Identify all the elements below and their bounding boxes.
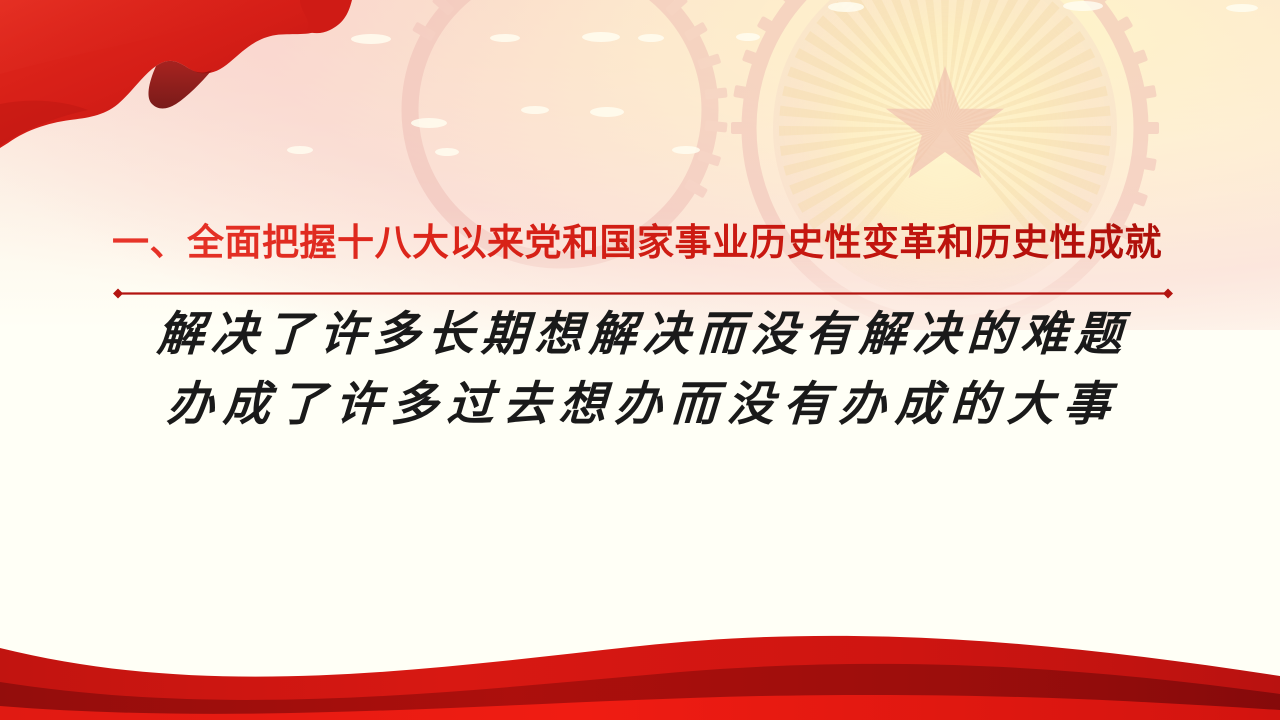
body-text-block: 解决了许多长期想解决而没有解决的难题 办成了许多过去想办而没有办成的大事 xyxy=(112,300,1174,440)
divider-right-diamond xyxy=(1163,289,1173,299)
heading-divider xyxy=(112,288,1174,299)
slide-content: 一、全面把握十八大以来党和国家事业历史性变革和历史性成就 解决了许多长期想解决而… xyxy=(0,0,1280,720)
section-heading: 一、全面把握十八大以来党和国家事业历史性变革和历史性成就 xyxy=(112,216,1172,270)
body-line-2: 办成了许多过去想办而没有办成的大事 xyxy=(110,370,1176,440)
slide-canvas: 一、全面把握十八大以来党和国家事业历史性变革和历史性成就 解决了许多长期想解决而… xyxy=(0,0,1280,720)
body-line-1: 解决了许多长期想解决而没有解决的难题 xyxy=(110,300,1176,370)
divider-left-diamond xyxy=(113,289,123,299)
